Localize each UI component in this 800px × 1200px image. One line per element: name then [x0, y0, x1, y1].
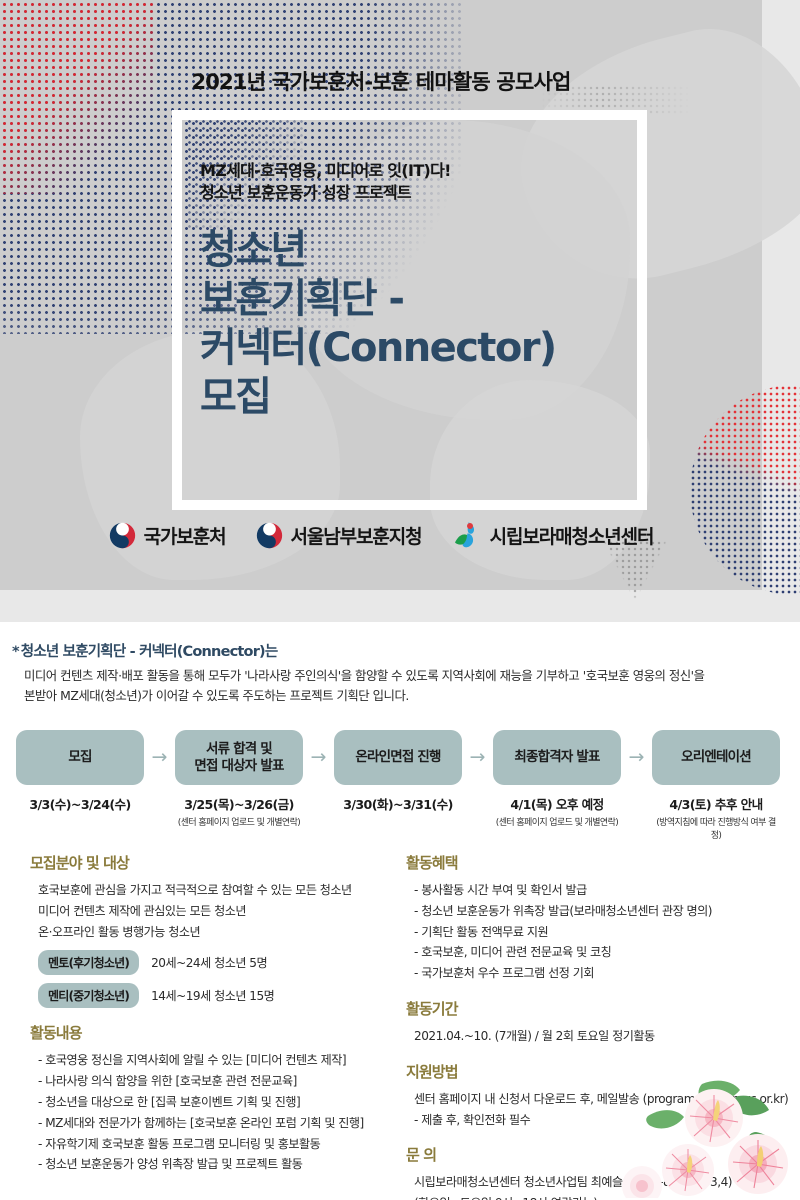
badge-mentor: 멘토(후기청소년)	[38, 950, 139, 975]
timeline-arrow-icon: →	[144, 730, 175, 785]
dot-pattern-mountains-bottom	[470, 540, 800, 622]
badge-mentor-desc: 20세~24세 청소년 5명	[151, 954, 267, 971]
timeline-label-3: 온라인면접 진행	[355, 749, 440, 766]
benefits-line-1: - 봉사활동 시간 부여 및 확인서 발급	[406, 880, 800, 901]
section-recruit: 모집분야 및 대상 호국보훈에 관심을 가지고 적극적으로 참여할 수 있는 모…	[30, 852, 398, 1008]
timeline-arrow-icon: →	[462, 730, 493, 785]
activities-line-4: - MZ세대와 전문가가 함께하는 [호국보훈 온라인 포럼 기획 및 진행]	[30, 1113, 398, 1134]
section-title-contact: 문 의	[406, 1144, 800, 1165]
boramae-icon	[452, 520, 482, 550]
activities-line-3: - 청소년을 대상으로 한 [집콕 보훈이벤트 기획 및 진행]	[30, 1092, 398, 1113]
asterisk-icon: *	[12, 644, 19, 660]
intro-body-line2: 본받아 MZ세대(청소년)가 이어갈 수 있도록 주도하는 프로젝트 기획단 입…	[24, 686, 792, 706]
recruit-line-1: 호국보훈에 관심을 가지고 적극적으로 참여할 수 있는 모든 청소년	[30, 880, 398, 901]
timeline-arrow-icon: →	[303, 730, 334, 785]
hero-banner: 2021년 국가보훈처-보훈 테마활동 공모사업 MZ세대-호국영웅, 미디어로…	[0, 0, 800, 622]
badge-row-mentee: 멘티(중기청소년) 14세~19세 청소년 15명	[30, 983, 398, 1008]
section-title-activities: 활동내용	[30, 1022, 398, 1043]
hero-subtitle-line1: MZ세대-호국영웅, 미디어로 잇(IT)다!	[200, 160, 640, 182]
activities-line-2: - 나라사랑 의식 함양을 위한 [호국보훈 관련 전문교육]	[30, 1071, 398, 1092]
timeline-label-5: 오리엔테이션	[681, 749, 751, 766]
benefits-line-2: - 청소년 보훈운동가 위촉장 발급(보라매청소년센터 관장 명의)	[406, 901, 800, 922]
poster-root: 2021년 국가보훈처-보훈 테마활동 공모사업 MZ세대-호국영웅, 미디어로…	[0, 0, 800, 1200]
intro-heading: *청소년 보훈기획단 - 커넥터(Connector)는	[12, 640, 792, 661]
timeline-date-4: 4/1(목) 오후 예정	[493, 794, 621, 813]
dot-pattern-topleft-red	[0, 0, 154, 194]
logo-label-seoul-south: 서울남부보훈지청	[291, 522, 422, 549]
taegeuk-icon	[256, 522, 283, 549]
contact-line-1: 시립보라매청소년센터 청소년사업팀 최예슬(☏ 02-834-7233,4)	[406, 1172, 800, 1193]
hero-kicker: 2021년 국가보훈처-보훈 테마활동 공모사업	[0, 66, 762, 96]
timeline-label-1: 모집	[68, 749, 91, 766]
benefits-line-3: - 기획단 활동 전액무료 지원	[406, 922, 800, 943]
timeline-note-2: (센터 홈페이지 업로드 및 개별연락)	[175, 815, 303, 828]
process-timeline: 모집 3/3(수)~3/24(수) → 서류 합격 및 면접 대상자 발표 3/…	[16, 730, 784, 841]
timeline-box-1: 모집	[16, 730, 144, 785]
timeline-label-4: 최종합격자 발표	[514, 749, 599, 766]
detail-columns: 모집분야 및 대상 호국보훈에 관심을 가지고 적극적으로 참여할 수 있는 모…	[0, 852, 800, 1200]
left-column: 모집분야 및 대상 호국보훈에 관심을 가지고 적극적으로 참여할 수 있는 모…	[0, 852, 398, 1200]
section-title-apply: 지원방법	[406, 1061, 800, 1082]
timeline-date-2: 3/25(목)~3/26(금)	[175, 794, 303, 813]
badge-mentee: 멘티(중기청소년)	[38, 983, 139, 1008]
recruit-line-2: 미디어 컨텐츠 제작에 관심있는 모든 청소년	[30, 901, 398, 922]
timeline-step-2: 서류 합격 및 면접 대상자 발표 3/25(목)~3/26(금) (센터 홈페…	[175, 730, 303, 828]
timeline-label-2-line2: 면접 대상자 발표	[194, 758, 283, 775]
hero-title-line2: 보훈기획단 -	[200, 275, 640, 324]
timeline-box-5: 오리엔테이션	[652, 730, 780, 785]
period-line-1: 2021.04.~10. (7개월) / 월 2회 토요일 정기활동	[406, 1026, 800, 1047]
timeline-step-5: 오리엔테이션 4/3(토) 추후 안내 (방역지침에 따라 진행방식 여부 결정…	[652, 730, 780, 841]
taegeuk-icon	[109, 522, 136, 549]
badge-row-mentor: 멘토(후기청소년) 20세~24세 청소년 5명	[30, 950, 398, 975]
intro-body-line1: 미디어 컨텐츠 제작·배포 활동을 통해 모두가 '나라사랑 주인의식'을 함양…	[24, 666, 792, 686]
timeline-date-5: 4/3(토) 추후 안내	[652, 794, 780, 813]
benefits-line-4: - 호국보훈, 미디어 관련 전문교육 및 코칭	[406, 942, 800, 963]
logo-item-mpva: 국가보훈처	[109, 522, 226, 549]
timeline-label-2: 서류 합격 및 면접 대상자 발표	[194, 741, 283, 775]
logo-item-boramae: 시립보라매청소년센터	[452, 520, 654, 550]
activities-line-6: - 청소년 보훈운동가 양성 위촉장 발급 및 프로젝트 활동	[30, 1154, 398, 1175]
contact-line-2: (화요일~토요일 9시~18시 연락가능)	[406, 1193, 800, 1200]
logo-item-seoul-south: 서울남부보훈지청	[256, 522, 422, 549]
hero-title-line3: 커넥터(Connector)	[200, 324, 640, 373]
timeline-box-3: 온라인면접 진행	[334, 730, 462, 785]
timeline-step-3: 온라인면접 진행 3/30(화)~3/31(수)	[334, 730, 462, 815]
section-period: 활동기간 2021.04.~10. (7개월) / 월 2회 토요일 정기활동	[406, 998, 800, 1047]
benefits-line-5: - 국가보훈처 우수 프로그램 선정 기회	[406, 963, 800, 984]
timeline-label-2-line1: 서류 합격 및	[194, 741, 283, 758]
activities-line-1: - 호국영웅 정신을 지역사회에 알릴 수 있는 [미디어 컨텐츠 제작]	[30, 1050, 398, 1071]
hero-title-line4: 모집	[200, 373, 640, 422]
section-title-recruit: 모집분야 및 대상	[30, 852, 398, 873]
timeline-note-5: (방역지침에 따라 진행방식 여부 결정)	[652, 815, 780, 841]
right-column: 활동혜택 - 봉사활동 시간 부여 및 확인서 발급 - 청소년 보훈운동가 위…	[398, 852, 800, 1200]
timeline-arrow-icon: →	[621, 730, 652, 785]
intro-body: 미디어 컨텐츠 제작·배포 활동을 통해 모두가 '나라사랑 주인의식'을 함양…	[12, 666, 792, 706]
hero-title-line1: 청소년	[200, 226, 640, 275]
apply-line-2: - 제출 후, 확인전화 필수	[406, 1110, 800, 1131]
hero-main-title: 청소년 보훈기획단 - 커넥터(Connector) 모집	[200, 226, 640, 421]
hero-subtitle-line2: 청소년 보훈운동가 성장 프로젝트	[200, 182, 640, 204]
logo-label-mpva: 국가보훈처	[144, 522, 226, 549]
apply-line-1: 센터 홈페이지 내 신청서 다운로드 후, 메일발송 (program@bora…	[406, 1089, 800, 1110]
logo-label-boramae: 시립보라매청소년센터	[490, 522, 654, 549]
intro-heading-text: 청소년 보훈기획단 - 커넥터(Connector)는	[21, 644, 278, 660]
section-apply: 지원방법 센터 홈페이지 내 신청서 다운로드 후, 메일발송 (program…	[406, 1061, 800, 1131]
hero-text-block: MZ세대-호국영웅, 미디어로 잇(IT)다! 청소년 보훈운동가 성장 프로젝…	[200, 160, 640, 421]
recruit-line-3: 온·오프라인 활동 병행가능 청소년	[30, 922, 398, 943]
timeline-note-4: (센터 홈페이지 업로드 및 개별연락)	[493, 815, 621, 828]
timeline-step-1: 모집 3/3(수)~3/24(수)	[16, 730, 144, 815]
badge-mentee-desc: 14세~19세 청소년 15명	[151, 987, 274, 1004]
section-contact: 문 의 시립보라매청소년센터 청소년사업팀 최예슬(☏ 02-834-7233,…	[406, 1144, 800, 1200]
section-activities: 활동내용 - 호국영웅 정신을 지역사회에 알릴 수 있는 [미디어 컨텐츠 제…	[30, 1022, 398, 1175]
section-benefits: 활동혜택 - 봉사활동 시간 부여 및 확인서 발급 - 청소년 보훈운동가 위…	[406, 852, 800, 984]
timeline-box-2: 서류 합격 및 면접 대상자 발표	[175, 730, 303, 785]
intro-block: *청소년 보훈기획단 - 커넥터(Connector)는 미디어 컨텐츠 제작·…	[12, 640, 792, 706]
section-title-period: 활동기간	[406, 998, 800, 1019]
timeline-date-1: 3/3(수)~3/24(수)	[16, 794, 144, 813]
hero-subtitle: MZ세대-호국영웅, 미디어로 잇(IT)다! 청소년 보훈운동가 성장 프로젝…	[200, 160, 640, 204]
section-title-benefits: 활동혜택	[406, 852, 800, 873]
timeline-box-4: 최종합격자 발표	[493, 730, 621, 785]
activities-line-5: - 자유학기제 호국보훈 활동 프로그램 모니터링 및 홍보활동	[30, 1134, 398, 1155]
timeline-date-3: 3/30(화)~3/31(수)	[334, 794, 462, 813]
logo-row: 국가보훈처 서울남부보훈지청 시립보라매청소년센터	[0, 520, 762, 550]
timeline-step-4: 최종합격자 발표 4/1(목) 오후 예정 (센터 홈페이지 업로드 및 개별연…	[493, 730, 621, 828]
